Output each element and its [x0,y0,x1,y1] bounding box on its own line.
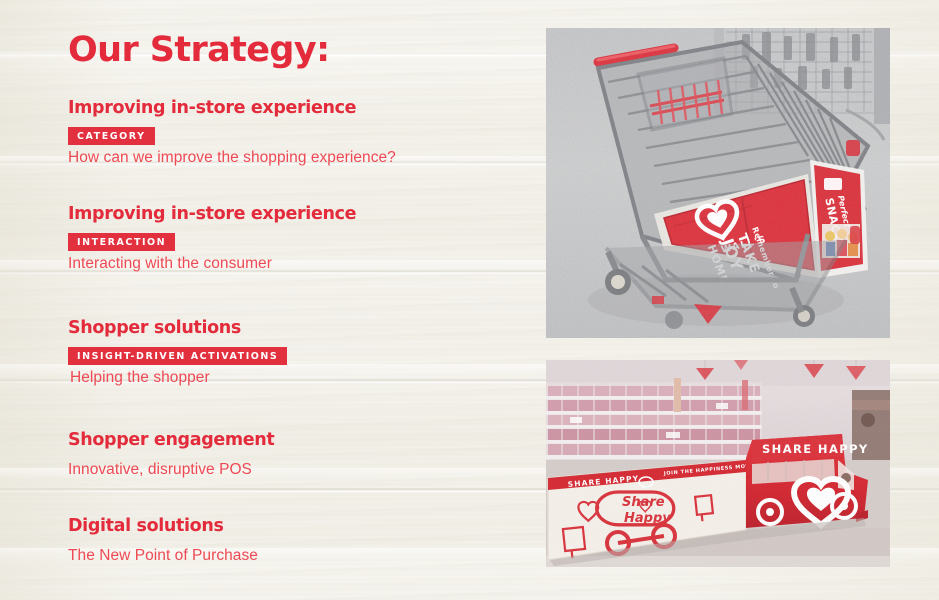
strategy-block-shopper-engagement: Shopper engagement Innovative, disruptiv… [68,430,274,480]
strategy-block-interaction: Improving in-store experience INTERACTIO… [68,204,356,274]
slide-canvas: Our Strategy: Improving in-store experie… [0,0,939,600]
strategy-subtext: Helping the shopper [68,368,287,388]
strategy-heading: Shopper engagement [68,430,274,451]
status-badge: INSIGHT-DRIVEN ACTIVATIONS [68,347,287,365]
strategy-heading: Improving in-store experience [68,98,396,119]
strategy-block-insight-driven-activations: Shopper solutions INSIGHT-DRIVEN ACTIVAT… [68,318,287,388]
share-happy-ice-cream-truck-photo: SHARE HAPPY JOIN THE HAPPINESS MOVEMENT … [546,360,890,567]
strategy-heading: Shopper solutions [68,318,287,339]
strategy-block-digital-solutions: Digital solutions The New Point of Purch… [68,516,258,566]
strategy-block-category: Improving in-store experience CATEGORY H… [68,98,396,168]
status-badge: CATEGORY [68,127,155,145]
left-content-column: Our Strategy: Improving in-store experie… [68,30,498,95]
shopping-cart-branded-mat-photo: WALL'S Remember to TAKE JOY HOME Perfect… [546,28,890,338]
strategy-subtext: How can we improve the shopping experien… [68,148,396,168]
strategy-subtext: Innovative, disruptive POS [68,460,274,480]
strategy-heading: Improving in-store experience [68,204,356,225]
strategy-subtext: Interacting with the consumer [68,254,356,274]
status-badge: INTERACTION [68,233,175,251]
strategy-subtext: The New Point of Purchase [68,546,258,566]
page-title: Our Strategy: [68,30,498,70]
strategy-heading: Digital solutions [68,516,258,537]
